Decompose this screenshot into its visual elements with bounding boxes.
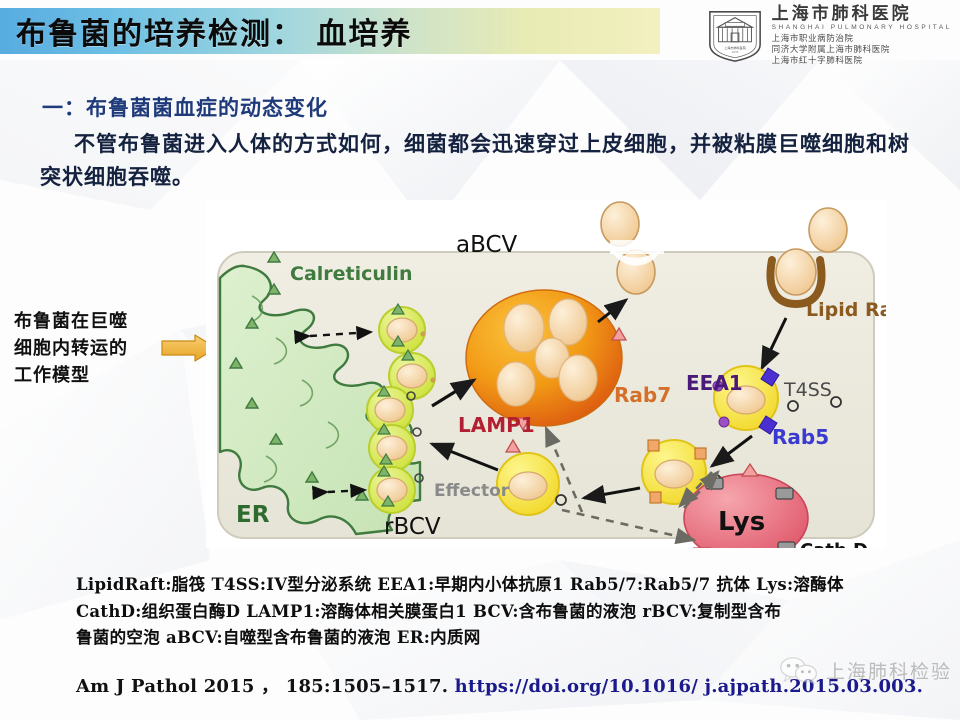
label-rab7: Rab7 — [614, 383, 671, 407]
left-annotation-line-3: 工作模型 — [14, 362, 189, 389]
logo-subline-1: 上海市职业病防治院 — [772, 34, 952, 43]
label-er: ER — [236, 502, 270, 528]
hospital-logo: 上海市肺科医院 1933 上海市肺科医院 SHANGHAI PULMONARY … — [706, 4, 952, 66]
caption-line-1: LipidRaft:脂筏 T4SS:IV型分泌系统 EEA1:早期内小体抗原1 … — [76, 572, 916, 599]
logo-subline-2: 同济大学附属上海市肺科医院 — [772, 45, 952, 54]
label-abcv: aBCV — [456, 232, 518, 258]
hospital-crest-icon: 上海市肺科医院 1933 — [706, 6, 764, 64]
label-rab5: Rab5 — [772, 425, 829, 449]
label-lipid-raft: Lipid Raft — [806, 299, 886, 321]
caption-line-3: 鲁菌的空泡 aBCV:自噬型含布鲁菌的液泡 ER:内质网 — [76, 625, 916, 652]
brucella-trafficking-figure: ER Calreticulin aBCV rBCV Effector LAMP1… — [206, 200, 886, 548]
slide-canvas: 布鲁菌的培养检测： 血培养 上海市肺科医院 1933 上海市肺科医院 SHANG… — [0, 0, 960, 720]
logo-chinese-name: 上海市肺科医院 — [772, 6, 952, 23]
logo-text-block: 上海市肺科医院 SHANGHAI PULMONARY HOSPITAL 上海市职… — [772, 6, 952, 65]
page-title: 布鲁菌的培养检测： 血培养 — [0, 9, 412, 53]
section-heading: 一：布鲁菌菌血症的动态变化 — [42, 92, 328, 122]
figure-caption: LipidRaft:脂筏 T4SS:IV型分泌系统 EEA1:早期内小体抗原1 … — [76, 572, 916, 652]
logo-english-name: SHANGHAI PULMONARY HOSPITAL — [772, 25, 952, 32]
svg-text:1933: 1933 — [731, 50, 738, 54]
watermark-text: 上海肺科检验 — [826, 657, 952, 684]
label-calreticulin: Calreticulin — [290, 263, 412, 285]
label-t4ss: T4SS — [783, 379, 832, 401]
label-lamp1: LAMP1 — [458, 413, 535, 437]
label-lys: Lys — [718, 507, 765, 537]
logo-subline-3: 上海市红十字肺科医院 — [772, 56, 952, 65]
label-eea1: EEA1 — [686, 371, 743, 395]
slide-title-bar: 布鲁菌的培养检测： 血培养 — [0, 8, 660, 54]
label-rbcv: rBCV — [384, 514, 441, 540]
wechat-watermark: 上海肺科检验 — [779, 656, 952, 684]
reference-citation: Am J Pathol 2015 ， 185:1505–1517. — [76, 676, 448, 697]
caption-line-2: CathD:组织蛋白酶D LAMP1:溶酶体相关膜蛋白1 BCV:含布鲁菌的液泡… — [76, 599, 916, 626]
body-paragraph: 不管布鲁菌进入人体的方式如何，细菌都会迅速穿过上皮细胞，并被粘膜巨噬细胞和树突状… — [40, 128, 910, 193]
wechat-icon — [779, 656, 819, 684]
label-effector: Effector — [434, 481, 510, 501]
left-annotation-line-1: 布鲁菌在巨噬 — [14, 308, 189, 335]
label-cath-d: Cath D — [800, 540, 868, 548]
